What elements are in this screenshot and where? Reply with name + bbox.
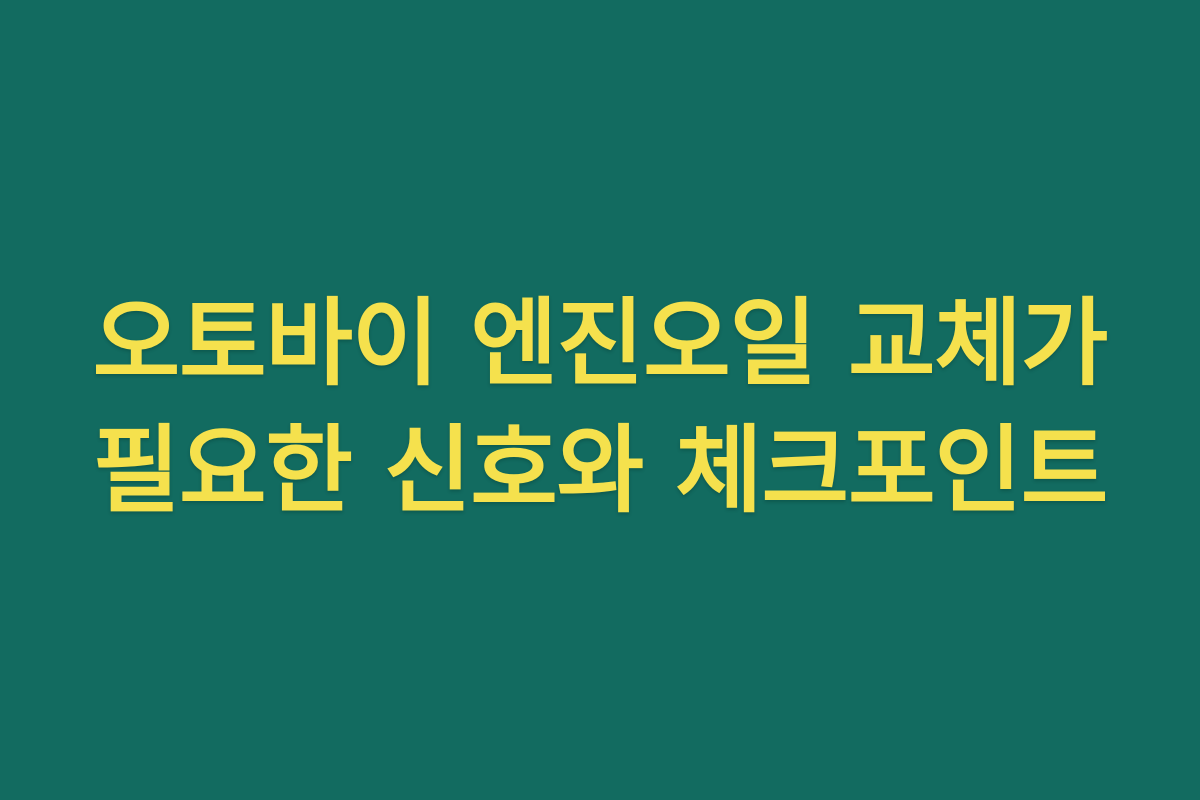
title-block: 오토바이 엔진오일 교체가 필요한 신호와 체크포인트	[90, 281, 1110, 535]
thumbnail-card: 오토바이 엔진오일 교체가 필요한 신호와 체크포인트	[0, 0, 1200, 800]
page-title: 오토바이 엔진오일 교체가 필요한 신호와 체크포인트	[90, 281, 1110, 535]
